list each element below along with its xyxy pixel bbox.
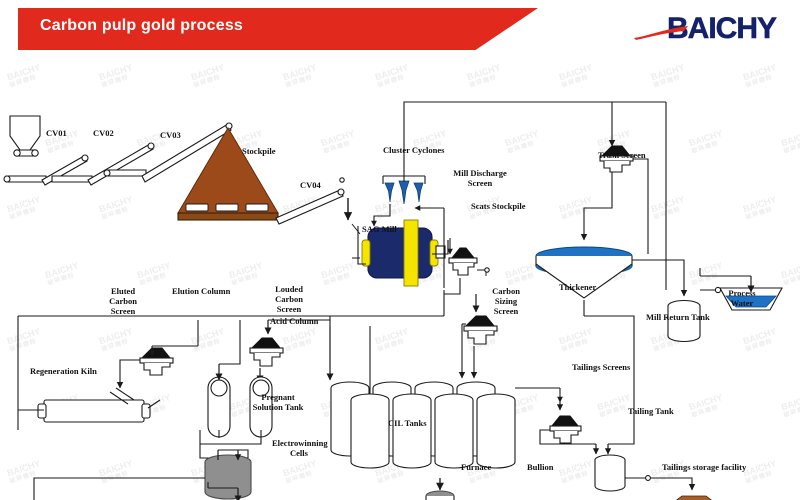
label-electrowinning-cells: Electrowinning Cells (272, 438, 326, 458)
label-cil-tanks: CIL Tanks (388, 418, 427, 428)
label-carbon-sizing-screen: Carbon Sizing Screen (482, 286, 530, 316)
label-cv02: CV02 (93, 128, 114, 138)
label-mill-discharge-screen: Mill Discharge Screen (452, 168, 508, 188)
label-cv04: CV04 (300, 180, 321, 190)
label-tailing-tank: Tailing Tank (628, 406, 674, 416)
label-cluster-cyclones: Cluster Cyclones (383, 145, 444, 155)
label-tailings-storage-facility: Tailings storage facility (662, 462, 746, 472)
label-bullion: Bullion (527, 462, 553, 472)
label-loaded-carbon-screen: Louded Carbon Screen (264, 284, 314, 314)
flowsheet-page: Carbon pulp gold process BAICHY BAICHY破碎… (0, 0, 800, 500)
label-scats-stockpile: Scats Stockpile (471, 201, 526, 211)
page-title: Carbon pulp gold process (40, 17, 243, 35)
label-trash-screen: Trash Screen (598, 150, 646, 160)
label-cv01: CV01 (46, 128, 67, 138)
label-mill-return-tank: Mill Return Tank (646, 312, 710, 322)
label-stockpile: Stockpile (242, 146, 276, 156)
label-tailings-screens: Tailings Screens (572, 362, 630, 372)
label-regeneration-kiln: Regeneration Kiln (30, 366, 97, 376)
label-pregnant-solution-tank: Pregnant Solution Tank (252, 392, 304, 412)
label-elution-column: Elution Column (172, 286, 230, 296)
label-thickener: Thickener (559, 282, 596, 292)
page-header: Carbon pulp gold process BAICHY (0, 0, 800, 58)
diagram-canvas: BAICHY破碎磨粉BAICHY破碎磨粉BAICHY破碎磨粉BAICHY破碎磨粉… (0, 58, 800, 500)
diagram-vector-layer (0, 58, 800, 500)
label-acid-column: Acid Column (270, 316, 318, 326)
process-flow-svg (0, 58, 800, 500)
label-eluted-carbon-screen: Eluted Carbon Screen (100, 286, 146, 316)
baichy-logo: BAICHY (616, 12, 776, 46)
label-cv03: CV03 (160, 130, 181, 140)
label-furnace: Furnace (461, 462, 491, 472)
label-process-water: Process Water (722, 288, 762, 308)
label-sag-mill: SAG Mill (362, 224, 397, 234)
logo-wordmark: BAICHY (667, 12, 776, 46)
